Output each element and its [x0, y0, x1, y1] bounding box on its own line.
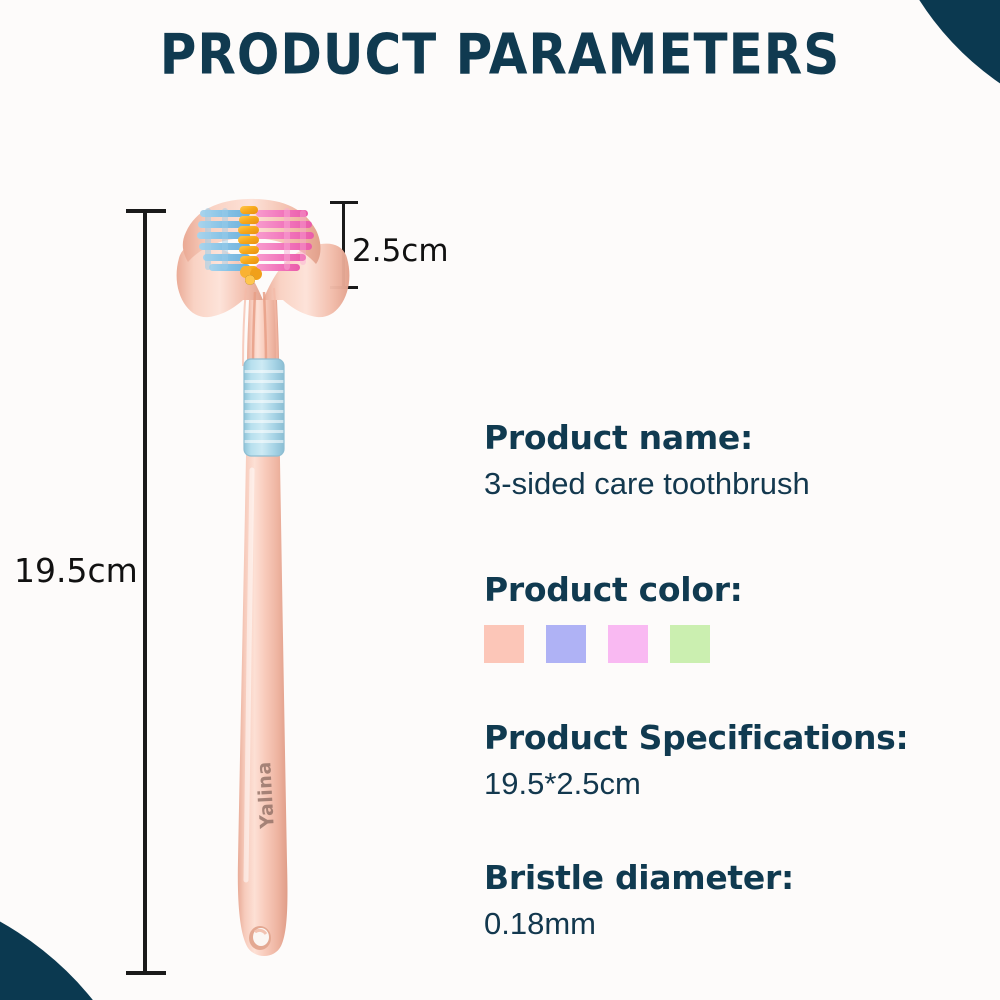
corner-decoration-bottom-left — [0, 890, 150, 1000]
spec-item-product-color: Product color: — [484, 570, 984, 663]
brand-logo: Yalina — [213, 742, 318, 847]
spec-label-product-color: Product color: — [484, 570, 984, 609]
spec-label-bristle-diameter: Bristle diameter: — [484, 858, 984, 897]
spec-item-product-name: Product name: 3-sided care toothbrush — [484, 418, 984, 502]
color-swatch-pink[interactable] — [608, 625, 648, 663]
dimension-tick-length-bottom — [126, 971, 166, 975]
dimension-line-length — [143, 209, 147, 975]
brand-logo-text: Yalina — [253, 761, 278, 829]
dimension-line-width — [342, 201, 345, 289]
spec-value-product-specifications: 19.5*2.5cm — [484, 766, 984, 802]
page-title: PRODUCT PARAMETERS — [0, 22, 1000, 87]
color-swatch-periwinkle[interactable] — [546, 625, 586, 663]
spec-value-bristle-diameter: 0.18mm — [484, 906, 984, 942]
spec-value-product-name: 3-sided care toothbrush — [484, 466, 984, 502]
dimension-tick-width-bottom — [330, 286, 358, 289]
product-parameters-infographic: PRODUCT PARAMETERS 19.5cm 2.5cm — [0, 0, 1000, 1000]
color-swatch-green[interactable] — [670, 625, 710, 663]
color-swatch-peach[interactable] — [484, 625, 524, 663]
color-swatch-row — [484, 625, 984, 663]
spec-label-product-name: Product name: — [484, 418, 984, 457]
dimension-label-width: 2.5cm — [352, 233, 449, 269]
spec-label-product-specifications: Product Specifications: — [484, 718, 984, 757]
spec-item-bristle-diameter: Bristle diameter: 0.18mm — [484, 858, 984, 942]
dimension-label-length: 19.5cm — [14, 551, 138, 590]
spec-item-product-specifications: Product Specifications: 19.5*2.5cm — [484, 718, 984, 802]
